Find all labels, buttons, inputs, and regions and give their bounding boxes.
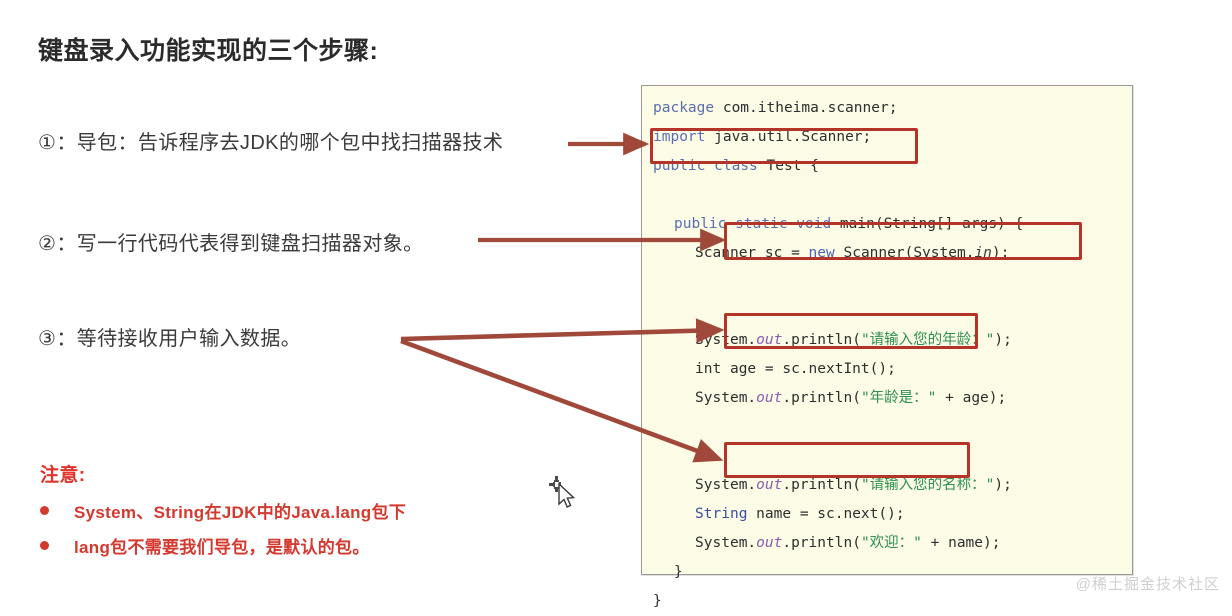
arrow-step3-to-int: [401, 330, 720, 339]
slide-canvas: 键盘录入功能实现的三个步骤: ①：导包：告诉程序去JDK的哪个包中找扫描器技术 …: [0, 0, 1232, 600]
annotation-arrow-layer: [0, 0, 1232, 600]
arrow-step3-to-string: [401, 341, 719, 459]
mouse-move-cursor-icon: [548, 475, 582, 511]
watermark: @稀土掘金技术社区: [1076, 573, 1220, 594]
